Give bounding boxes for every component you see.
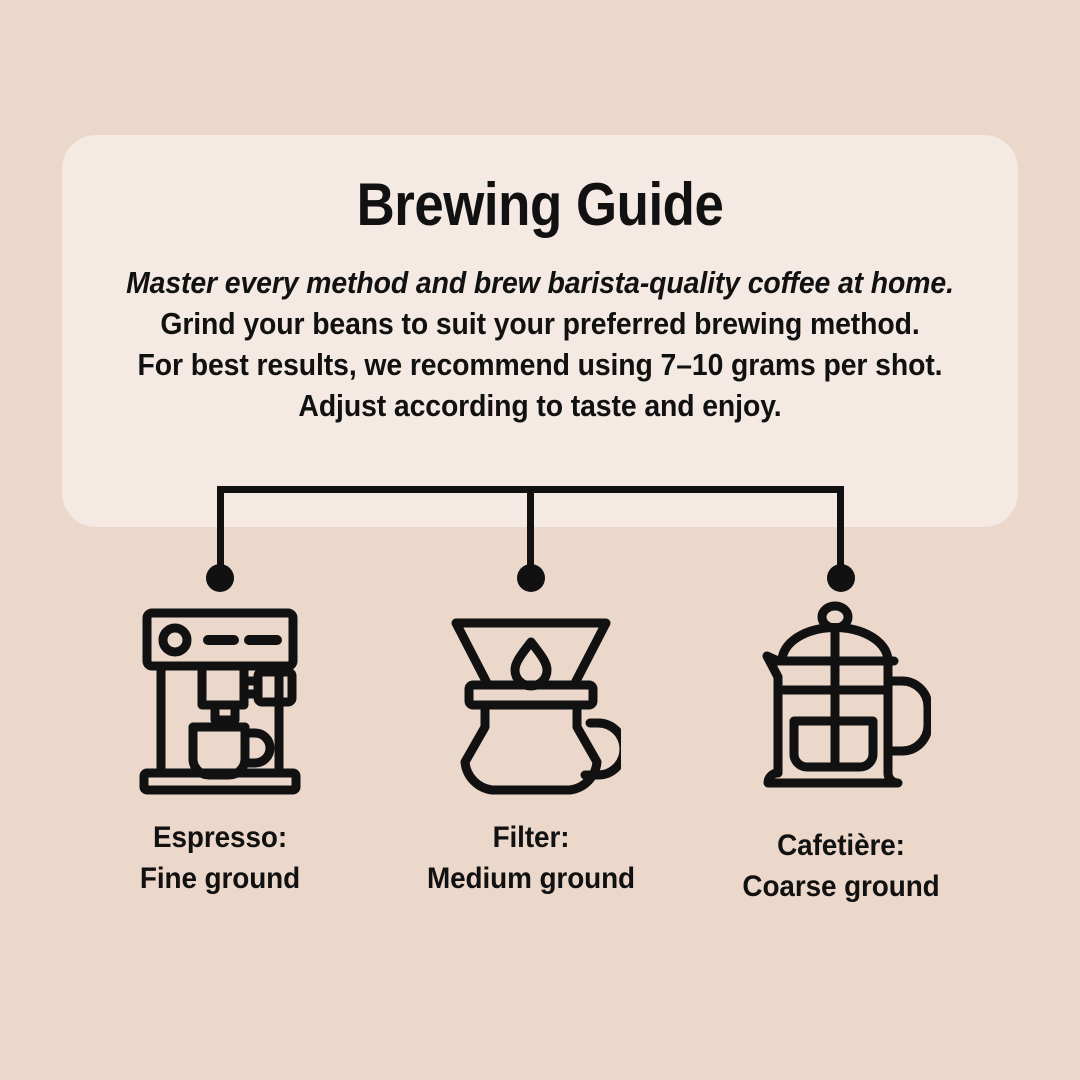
method-grind-espresso: Fine ground xyxy=(71,858,369,899)
method-grind-cafetiere: Coarse ground xyxy=(692,866,990,907)
connector-dot-espresso xyxy=(206,564,234,592)
intro-text-block: Master every method and brew barista-qua… xyxy=(62,263,1018,427)
espresso-machine-icon xyxy=(60,595,380,795)
intro-line-4: Adjust according to taste and enjoy. xyxy=(95,386,984,427)
connector-bracket xyxy=(0,470,1080,600)
method-name-filter: Filter: xyxy=(493,821,570,854)
method-label-filter: Filter: Medium ground xyxy=(382,817,680,899)
method-column-filter: Filter: Medium ground xyxy=(371,595,691,899)
page-title: Brewing Guide xyxy=(119,173,960,236)
connector-dot-cafetiere xyxy=(827,564,855,592)
connector-dot-filter xyxy=(517,564,545,592)
intro-line-2: Grind your beans to suit your preferred … xyxy=(95,304,984,345)
intro-line-3: For best results, we recommend using 7–1… xyxy=(95,345,984,386)
header-card: Brewing Guide Master every method and br… xyxy=(62,135,1018,527)
method-label-cafetiere: Cafetière: Coarse ground xyxy=(692,825,990,907)
method-column-espresso: Espresso: Fine ground xyxy=(60,595,380,899)
method-name-espresso: Espresso: xyxy=(153,821,287,854)
pour-over-filter-icon xyxy=(371,595,691,795)
cafetiere-french-press-icon xyxy=(681,595,1001,795)
method-grind-filter: Medium ground xyxy=(382,858,680,899)
brewing-methods-row: Espresso: Fine ground xyxy=(0,595,1080,915)
method-label-espresso: Espresso: Fine ground xyxy=(71,817,369,899)
intro-line-1: Master every method and brew barista-qua… xyxy=(95,263,984,304)
method-name-cafetiere: Cafetière: xyxy=(777,829,905,862)
method-column-cafetiere: Cafetière: Coarse ground xyxy=(681,595,1001,907)
